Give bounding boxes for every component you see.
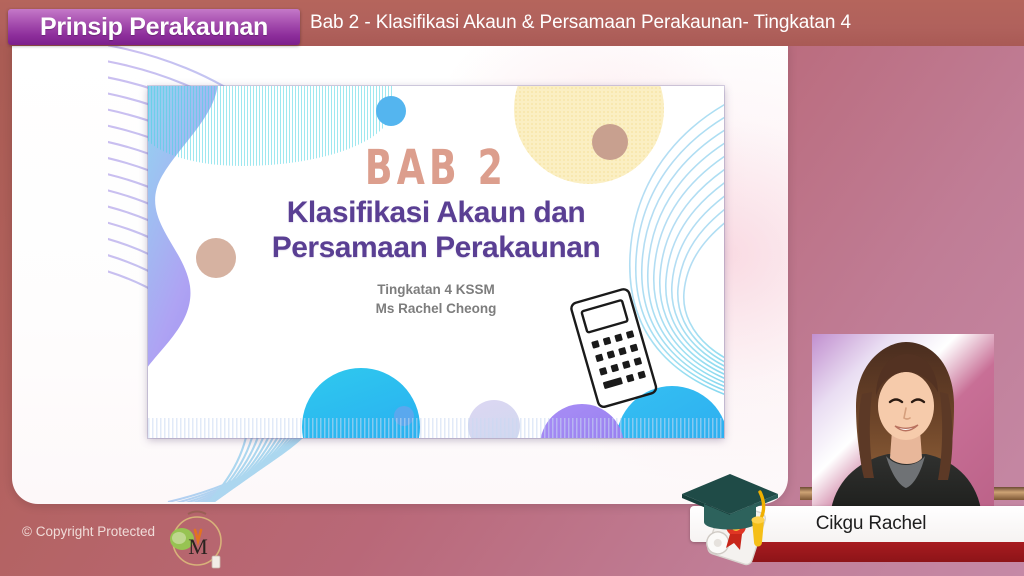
graduation-cap-icon [674, 460, 794, 568]
slide-chapter-number: BAB 2 [194, 144, 678, 192]
slide-canvas: BAB 2 Klasifikasi Akaun dan Persamaan Pe… [148, 86, 724, 438]
brand-logo-icon: M [162, 508, 228, 574]
presentation-screen: BAB 2 Klasifikasi Akaun dan Persamaan Pe… [0, 0, 1024, 576]
circle-cyan-large [302, 368, 420, 438]
course-badge-label: Prinsip Perakaunan [40, 13, 268, 42]
circle-dot-tiny [394, 406, 414, 426]
header-title: Bab 2 - Klasifikasi Akaun & Persamaan Pe… [310, 0, 851, 46]
slide-heading-line-1: Klasifikasi Akaun dan [148, 196, 724, 231]
calculator-icon [568, 286, 660, 412]
copyright-notice: © Copyright Protected [22, 524, 155, 539]
svg-text:M: M [188, 534, 208, 559]
course-badge: Prinsip Perakaunan [8, 9, 300, 45]
presenter-name-plate: Cikgu Rachel [690, 506, 1024, 548]
copyright-text: © Copyright Protected [22, 524, 155, 539]
slide-heading-line-2: Persamaan Perakaunan [148, 231, 724, 266]
circle-blue-small [376, 96, 406, 126]
presenter-video [812, 334, 994, 516]
circle-lilac-small [468, 400, 520, 438]
bottom-stripe-band [148, 418, 724, 438]
